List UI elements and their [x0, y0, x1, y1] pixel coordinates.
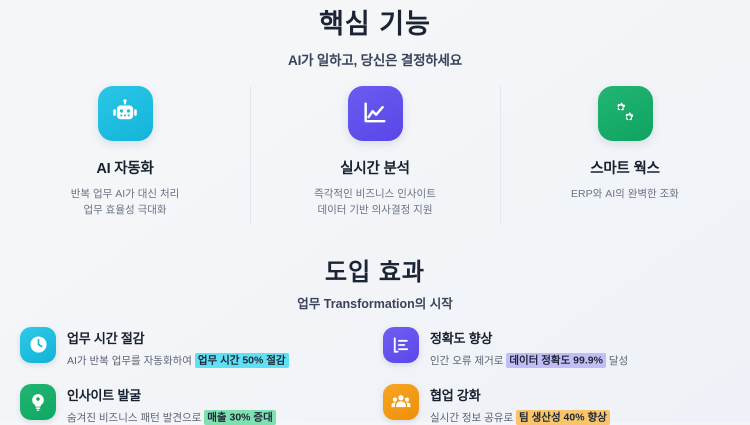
feature-card-smart-works[interactable]: 스마트 웍스 ERP와 AI의 완벽한 조화	[500, 86, 750, 226]
feature-card-realtime-analysis[interactable]: 실시간 분석 즉각적인 비즈니스 인사이트 데이터 기반 의사결정 지원	[250, 86, 500, 226]
feature-card-desc-line1: ERP와 AI의 완벽한 조화	[571, 187, 679, 203]
benefits-title: 도입 효과	[0, 252, 750, 287]
benefit-title: 인사이트 발굴	[67, 385, 276, 404]
line-chart-icon	[348, 86, 403, 141]
benefit-list: 업무 시간 절감 AI가 반복 업무를 자동화하여 업무 시간 50% 절감 정…	[20, 327, 730, 425]
feature-card-desc: 반복 업무 AI가 대신 처리 업무 효율성 극대화	[71, 187, 180, 219]
feature-card-desc-line1: 반복 업무 AI가 대신 처리	[71, 187, 180, 203]
features-subtitle: AI가 일하고, 당신은 결정하세요	[0, 49, 750, 69]
benefit-title: 업무 시간 절감	[67, 328, 289, 347]
benefit-text: 정확도 향상 인간 오류 제거로 데이터 정확도 99.9% 달성	[430, 327, 628, 368]
feature-card-title: 실시간 분석	[340, 157, 410, 178]
benefit-desc: AI가 반복 업무를 자동화하여 업무 시간 50% 절감	[67, 353, 289, 368]
benefit-title: 정확도 향상	[430, 328, 628, 347]
gears-icon	[598, 86, 653, 141]
feature-card-desc: 즉각적인 비즈니스 인사이트 데이터 기반 의사결정 지원	[314, 187, 436, 219]
benefit-item-collaboration[interactable]: 협업 강화 실시간 정보 공유로 팀 생산성 40% 향상	[383, 384, 730, 425]
people-group-icon	[383, 384, 419, 420]
benefit-desc-highlight: 매출 30% 증대	[204, 410, 276, 425]
benefit-item-time-saving[interactable]: 업무 시간 절감 AI가 반복 업무를 자동화하여 업무 시간 50% 절감	[20, 327, 367, 368]
feature-card-ai-automation[interactable]: AI 자동화 반복 업무 AI가 대신 처리 업무 효율성 극대화	[0, 86, 250, 226]
benefits-header: 도입 효과 업무 Transformation의 시작	[0, 252, 750, 312]
robot-icon	[98, 86, 153, 141]
feature-card-list: AI 자동화 반복 업무 AI가 대신 처리 업무 효율성 극대화 실시간 분석…	[0, 86, 750, 226]
benefit-desc-prefix: AI가 반복 업무를 자동화하여	[67, 355, 195, 367]
benefit-text: 인사이트 발굴 숨겨진 비즈니스 패턴 발견으로 매출 30% 증대	[67, 384, 276, 425]
benefit-desc-highlight: 팀 생산성 40% 향상	[516, 410, 610, 425]
lightbulb-icon	[20, 384, 56, 420]
benefit-title: 협업 강화	[430, 385, 610, 404]
benefit-desc-prefix: 인간 오류 제거로	[430, 355, 506, 367]
benefit-text: 협업 강화 실시간 정보 공유로 팀 생산성 40% 향상	[430, 384, 610, 425]
feature-card-desc-line1: 즉각적인 비즈니스 인사이트	[314, 187, 436, 203]
feature-card-desc-line2: 업무 효율성 극대화	[71, 203, 180, 219]
feature-card-desc: ERP와 AI의 완벽한 조화	[571, 187, 679, 203]
bar-chart-icon	[383, 327, 419, 363]
benefit-text: 업무 시간 절감 AI가 반복 업무를 자동화하여 업무 시간 50% 절감	[67, 327, 289, 368]
features-title: 핵심 기능	[0, 8, 750, 42]
benefit-item-insight[interactable]: 인사이트 발굴 숨겨진 비즈니스 패턴 발견으로 매출 30% 증대	[20, 384, 367, 425]
benefit-item-accuracy[interactable]: 정확도 향상 인간 오류 제거로 데이터 정확도 99.9% 달성	[383, 327, 730, 368]
clock-icon	[20, 327, 56, 363]
feature-card-title: AI 자동화	[96, 157, 153, 178]
benefits-subtitle: 업무 Transformation의 시작	[0, 293, 750, 312]
benefit-desc: 실시간 정보 공유로 팀 생산성 40% 향상	[430, 410, 610, 425]
benefit-desc: 숨겨진 비즈니스 패턴 발견으로 매출 30% 증대	[67, 410, 276, 425]
benefit-desc-highlight: 업무 시간 50% 절감	[195, 353, 289, 368]
feature-card-desc-line2: 데이터 기반 의사결정 지원	[314, 203, 436, 219]
benefit-desc: 인간 오류 제거로 데이터 정확도 99.9% 달성	[430, 353, 628, 368]
benefit-desc-highlight: 데이터 정확도 99.9%	[506, 353, 606, 368]
feature-card-title: 스마트 웍스	[590, 157, 660, 178]
benefit-desc-suffix: 달성	[606, 355, 628, 367]
features-header: 핵심 기능 AI가 일하고, 당신은 결정하세요	[0, 0, 750, 69]
